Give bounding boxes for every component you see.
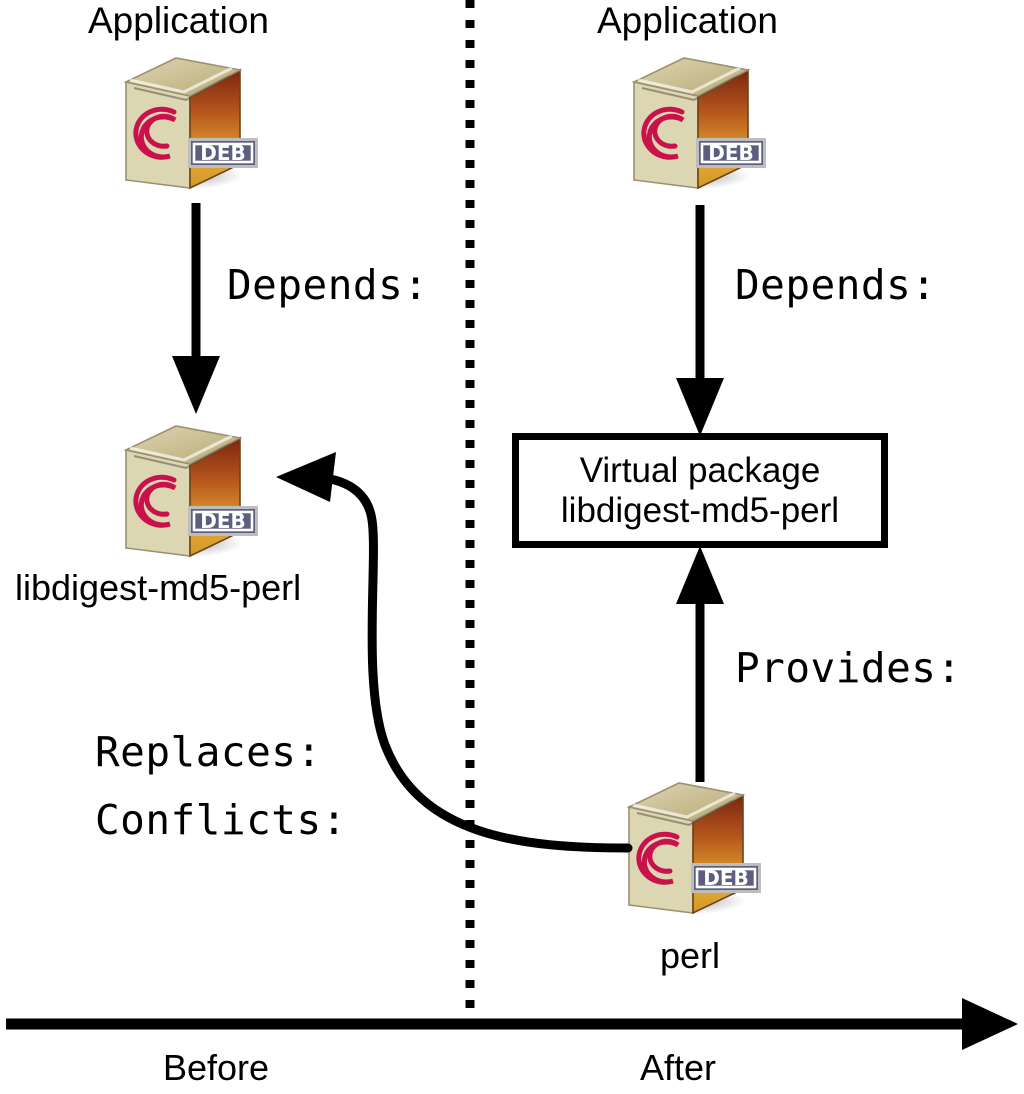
column-title-after: Application — [597, 2, 778, 39]
debian-package-icon: DEB — [615, 775, 775, 925]
timeline-label-after: After — [640, 1050, 716, 1086]
edge-label-replaces: Replaces: — [95, 732, 322, 773]
debian-package-icon: DEB — [112, 418, 272, 568]
node-label-libdigest-md5-perl: libdigest-md5-perl — [15, 570, 301, 606]
debian-package-icon: DEB — [620, 50, 780, 200]
node-label-perl: perl — [660, 938, 720, 974]
virtual-package-line2: libdigest-md5-perl — [561, 491, 839, 530]
svg-text:DEB: DEB — [200, 509, 246, 533]
edge-label-conflicts: Conflicts: — [95, 800, 347, 841]
arrow-provides — [676, 546, 724, 782]
edge-label-depends-after: Depends: — [735, 265, 936, 306]
arrow-depends-before — [172, 203, 220, 414]
column-title-before: Application — [88, 2, 269, 39]
virtual-package-line1: Virtual package — [580, 451, 821, 490]
arrow-depends-after — [676, 205, 724, 436]
svg-text:DEB: DEB — [708, 141, 754, 165]
diagram-canvas: Application Application — [0, 0, 1024, 1094]
timeline-label-before: Before — [163, 1050, 269, 1086]
timeline-arrow — [6, 998, 1018, 1050]
edge-label-depends-before: Depends: — [227, 265, 428, 306]
debian-package-icon: DEB — [112, 50, 272, 200]
virtual-package-box: Virtual package libdigest-md5-perl — [512, 433, 888, 548]
svg-text:DEB: DEB — [703, 866, 749, 890]
svg-text:DEB: DEB — [200, 141, 246, 165]
edge-label-provides: Provides: — [735, 648, 962, 689]
